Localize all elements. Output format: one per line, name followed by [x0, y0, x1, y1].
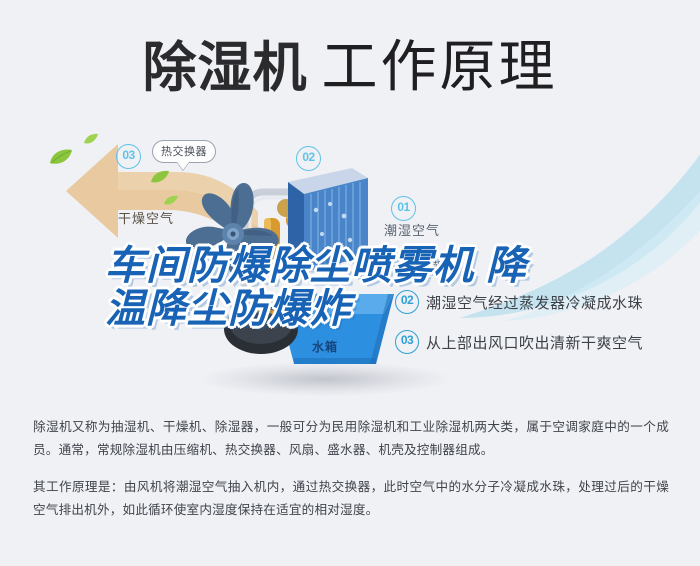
heat-exchanger-callout: 热交换器	[152, 140, 216, 163]
page-title: 除湿机工作原理	[0, 22, 700, 103]
overlay-headline-line2: 温降尘防爆炸	[105, 288, 575, 331]
poster-canvas: 除湿机工作原理	[0, 0, 700, 566]
badge-01: 01	[391, 196, 416, 221]
badge-02: 02	[296, 146, 321, 171]
dry-air-label: 干燥空气	[118, 208, 174, 227]
page-title-light: 工作原理	[322, 35, 558, 98]
badge-03: 03	[116, 144, 141, 169]
caption-badge: 03	[395, 330, 419, 354]
humid-air-label: 潮湿空气	[384, 220, 440, 239]
body-text: 除湿机又称为抽湿机、干燥机、除湿器，一般可分为民用除湿机和工业除湿机两大类，属于…	[33, 416, 669, 536]
caption-text: 从上部出风口吹出清新干爽空气	[426, 332, 643, 353]
leaf-icon	[48, 148, 74, 171]
body-paragraph-1: 除湿机又称为抽湿机、干燥机、除湿器，一般可分为民用除湿机和工业除湿机两大类，属于…	[33, 416, 669, 462]
leaf-icon	[83, 132, 99, 150]
overlay-headline: 车间防爆除尘喷雾机 降 温降尘防爆炸	[105, 245, 575, 331]
body-paragraph-2: 其工作原理是：由风机将潮湿空气抽入机内，通过热交换器，此时空气中的水分子冷凝成水…	[33, 476, 669, 522]
overlay-headline-line1: 车间防爆除尘喷雾机 降	[105, 244, 527, 288]
water-tank-label: 水箱	[312, 338, 338, 355]
page-title-bold: 除湿机	[143, 38, 308, 98]
caption-row: 03 从上部出风口吹出清新干爽空气	[395, 330, 685, 354]
